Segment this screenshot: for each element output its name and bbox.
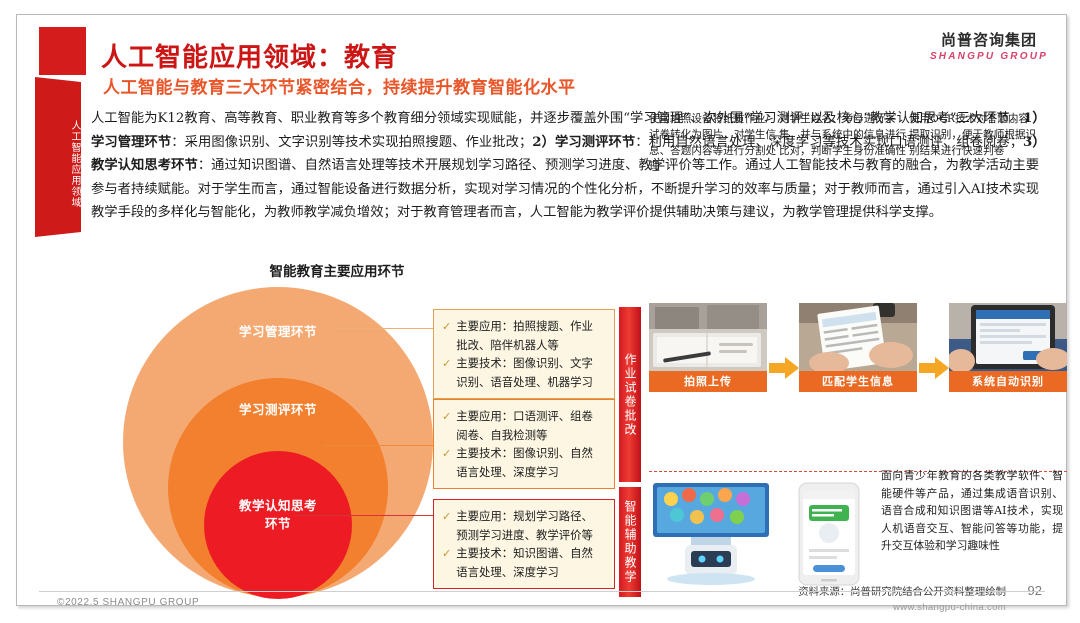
check-icon: ✓ <box>441 407 456 427</box>
flow-step-1-description: 使用拍照设备将纸质作业/试卷转化为图片，对学生信息、答题内容等进行分割处理 <box>649 111 777 175</box>
vertical-bar-intelligent-teaching: 智能辅助教学 <box>619 487 641 597</box>
bottom-right-description: 面向青少年教育的各类教学软件、智能硬件等产品，通过集成语音识别、语音合成和知识图… <box>881 467 1063 555</box>
circle-label-outer: 学习管理环节 <box>123 321 433 340</box>
callout-line: 语言处理、深度学习 <box>456 565 559 579</box>
callout-line: 阅卷、自我检测等 <box>456 428 547 442</box>
callout-line: 主要技术：图像识别、自然 <box>456 446 593 460</box>
callout-text: 主要技术：知识图谱、自然 语言处理、深度学习 <box>456 544 593 581</box>
side-tab-chapter: 人工智能应用领域 <box>35 77 81 237</box>
photo-education-robot <box>647 481 775 585</box>
callout-text: 主要应用：口语测评、组卷 阅卷、自我检测等 <box>456 407 593 444</box>
flow-step-1: 拍照上传 <box>649 303 767 392</box>
callout-text: 主要技术：图像识别、文字 识别、语音处理、机器学习 <box>456 354 593 391</box>
flow-step-3: 系统自动识别 <box>949 303 1067 392</box>
photo-tablet-screen <box>949 303 1067 371</box>
callout-box-learning-assessment: ✓ 主要应用：口语测评、组卷 阅卷、自我检测等 ✓ 主要技术：图像识别、自然 语… <box>433 399 615 489</box>
callout-line: 主要应用：规划学习路径、 <box>456 509 593 523</box>
callout-line: 主要应用：拍照搜题、作业 <box>456 319 593 333</box>
check-icon: ✓ <box>441 354 456 374</box>
callout-box-cognitive-teaching: ✓ 主要应用：规划学习路径、 预测学习进度、教学评价等 ✓ 主要技术：知识图谱、… <box>433 499 615 589</box>
callout-row: ✓ 主要技术：图像识别、自然 语言处理、深度学习 <box>441 444 606 481</box>
website-url: www.shangpu-china.com <box>893 602 1006 613</box>
arrow-right-icon-1 <box>769 357 799 379</box>
callout-text: 主要应用：拍照搜题、作业 批改、陪伴机器人等 <box>456 317 593 354</box>
callout-row: ✓ 主要技术：知识图谱、自然 语言处理、深度学习 <box>441 544 606 581</box>
flow-step-3-label: 系统自动识别 <box>949 371 1067 392</box>
circle-label-inner-line1: 教学认知思考 <box>123 497 433 515</box>
flow-step-3-description: 使用OCR技术对答题内容提取识别，便于教师根据识别结果进行快速判卷 <box>909 111 1037 159</box>
concentric-circles-diagram: 学习管理环节 学习测评环节 教学认知思考 环节 <box>123 287 433 599</box>
flow-step-2-description: 对学生姓名、考号进行采集，并与系统中的信息进行比对，判断学生身份准确性 <box>779 111 907 159</box>
callout-row: ✓ 主要应用：口语测评、组卷 阅卷、自我检测等 <box>441 407 606 444</box>
callout-line: 批改、陪伴机器人等 <box>456 338 559 352</box>
flow-step-2: 匹配学生信息 <box>799 303 917 392</box>
callout-row: ✓ 主要应用：规划学习路径、 预测学习进度、教学评价等 <box>441 507 606 544</box>
callout-line: 主要应用：口语测评、组卷 <box>456 409 593 423</box>
company-logo: 尚普咨询集团 SHANGPU GROUP <box>930 29 1048 62</box>
flow-step-2-label: 匹配学生信息 <box>799 371 917 392</box>
check-icon: ✓ <box>441 544 456 564</box>
callout-line: 主要技术：知识图谱、自然 <box>456 546 593 560</box>
flow-step-1-label: 拍照上传 <box>649 371 767 392</box>
callout-line: 预测学习进度、教学评价等 <box>456 528 593 542</box>
callout-text: 主要应用：规划学习路径、 预测学习进度、教学评价等 <box>456 507 593 544</box>
photo-desk-notebook <box>649 303 767 371</box>
check-icon: ✓ <box>441 507 456 527</box>
check-icon: ✓ <box>441 444 456 464</box>
callout-box-learning-management: ✓ 主要应用：拍照搜题、作业 批改、陪伴机器人等 ✓ 主要技术：图像识别、文字 … <box>433 309 615 399</box>
callout-line: 语言处理、深度学习 <box>456 465 559 479</box>
callout-row: ✓ 主要应用：拍照搜题、作业 批改、陪伴机器人等 <box>441 317 606 354</box>
slide-canvas: 人工智能应用领域 人工智能应用领域：教育 人工智能与教育三大环节紧密结合，持续提… <box>16 14 1067 606</box>
page-title: 人工智能应用领域：教育 <box>101 37 398 74</box>
vertical-bar-homework-grading: 作业试卷批改 <box>619 307 641 482</box>
header-red-block <box>39 27 86 75</box>
photo-smartphone-app <box>783 481 875 587</box>
arrow-right-icon-2 <box>919 357 949 379</box>
copyright-text: ©2022.5 SHANGPU GROUP <box>57 597 199 608</box>
callout-text: 主要技术：图像识别、自然 语言处理、深度学习 <box>456 444 593 481</box>
footer-divider <box>39 591 1045 592</box>
process-flow: 拍照上传 <box>649 303 1067 395</box>
circle-label-middle: 学习测评环节 <box>123 399 433 418</box>
callout-row: ✓ 主要技术：图像识别、文字 识别、语音处理、机器学习 <box>441 354 606 391</box>
logo-english-name: SHANGPU GROUP <box>930 51 1048 62</box>
photo-hands-form <box>799 303 917 371</box>
check-icon: ✓ <box>441 317 456 337</box>
circle-label-inner-line2: 环节 <box>123 515 433 533</box>
callout-line: 主要技术：图像识别、文字 <box>456 356 593 370</box>
connector-line-outer <box>333 328 433 329</box>
logo-chinese-name: 尚普咨询集团 <box>930 29 1048 50</box>
page-subtitle: 人工智能与教育三大环节紧密结合，持续提升教育智能化水平 <box>103 73 576 98</box>
side-tab-label: 人工智能应用领域 <box>35 120 81 208</box>
connector-line-middle <box>323 445 433 446</box>
connector-line-inner <box>295 515 433 516</box>
diagram-title: 智能教育主要应用环节 <box>17 260 657 280</box>
callout-line: 识别、语音处理、机器学习 <box>456 375 593 389</box>
